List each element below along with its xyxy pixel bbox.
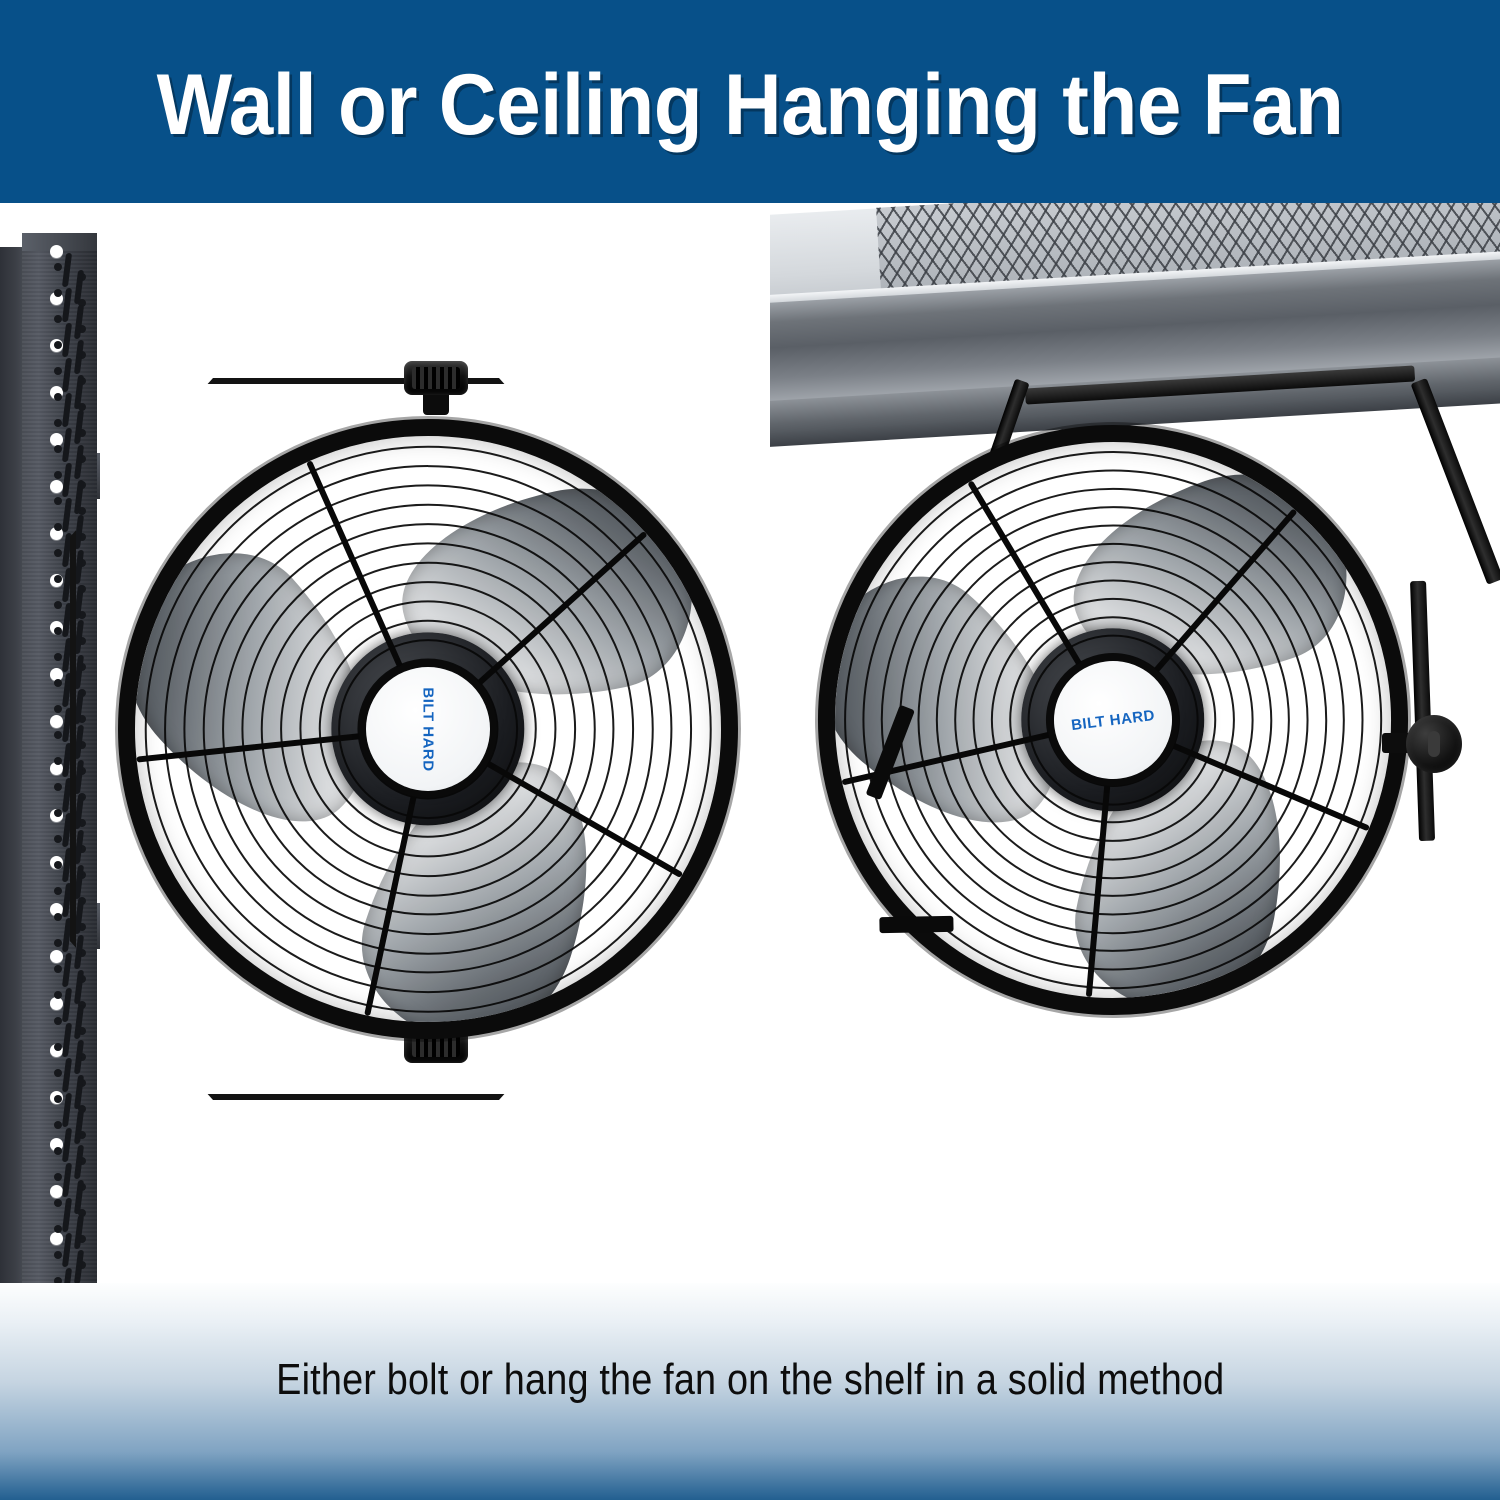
fan-unit-2: BILT HARD	[784, 391, 1442, 1049]
rack-hole-small	[54, 705, 62, 713]
rack-hole-small	[54, 1251, 62, 1259]
rack-slot	[74, 1215, 84, 1249]
rack-hole-small	[54, 523, 62, 531]
header-banner: Wall or Ceiling Hanging the Fan	[0, 0, 1500, 203]
rack-hole-small	[54, 1069, 62, 1077]
rack-slot	[62, 393, 72, 427]
rack-hole-small	[54, 679, 62, 687]
rack-hole-small	[54, 809, 62, 817]
rack-slot	[62, 463, 72, 497]
rack-slot	[62, 1058, 72, 1092]
rack-slot	[74, 375, 84, 409]
infographic-page: Wall or Ceiling Hanging the Fan	[0, 0, 1500, 1500]
rack-slot	[62, 1233, 72, 1267]
rack-hole-small	[54, 1017, 62, 1025]
rack-hole-small	[54, 471, 62, 479]
rack-slot	[74, 340, 84, 374]
cage-side-wing-left	[879, 916, 953, 933]
rack-slot	[62, 288, 72, 322]
brand-logo-text: BILT HARD	[420, 687, 437, 771]
rack-hole-small	[54, 341, 62, 349]
rack-hole-small	[54, 783, 62, 791]
rack-hole-small	[54, 549, 62, 557]
rack-hole-small	[54, 263, 62, 271]
fan-unit-1: BILT HARD	[118, 419, 738, 1039]
rack-hole-small	[54, 601, 62, 609]
rack-slot	[62, 323, 72, 357]
rack-slot	[62, 1093, 72, 1127]
rack-slot	[74, 480, 84, 514]
rack-hole-small	[54, 393, 62, 401]
rack-slot	[74, 1180, 84, 1214]
brand-logo-text: BILT HARD	[1070, 706, 1156, 733]
rack-slot	[74, 1110, 84, 1144]
rack-hole-small	[54, 575, 62, 583]
rack-hole-small	[54, 965, 62, 973]
rack-hole-small	[54, 1225, 62, 1233]
comparison-stage: BILT HARD	[0, 203, 1500, 1283]
rack-hole-small	[54, 445, 62, 453]
tilt-knob-top[interactable]	[404, 361, 468, 395]
rack-slot	[74, 305, 84, 339]
rack-slot	[74, 270, 84, 304]
rack-hole-small	[54, 497, 62, 505]
rack-hole-small	[54, 419, 62, 427]
panel-ceiling-hang: BILT HARD	[770, 203, 1500, 1283]
tilt-knob-side[interactable]	[1406, 715, 1462, 773]
rack-slot	[62, 253, 72, 287]
rack-slot	[62, 988, 72, 1022]
rack-hole-small	[54, 757, 62, 765]
rack-slot	[62, 1023, 72, 1057]
rack-slot	[74, 1145, 84, 1179]
rack-hole-small	[54, 1121, 62, 1129]
rack-hole-small	[54, 289, 62, 297]
rack-hole-small	[54, 1095, 62, 1103]
rack-hole-small	[54, 913, 62, 921]
rack-slot	[74, 445, 84, 479]
rack-slot	[74, 970, 84, 1004]
rack-slot	[74, 410, 84, 444]
rack-slot	[74, 1040, 84, 1074]
rack-slot	[62, 428, 72, 462]
footer-banner: Either bolt or hang the fan on the shelf…	[0, 1283, 1500, 1500]
rack-slot	[74, 1250, 84, 1283]
rack-slot	[62, 498, 72, 532]
rack-hole-small	[54, 315, 62, 323]
rack-hole-small	[54, 887, 62, 895]
rack-slot	[62, 1198, 72, 1232]
rack-slot	[62, 1163, 72, 1197]
rack-hole-small	[54, 861, 62, 869]
rack-hole-small	[54, 991, 62, 999]
rack-slot	[74, 1075, 84, 1109]
panel-wall-mount: BILT HARD	[0, 203, 770, 1283]
rack-slot	[62, 953, 72, 987]
rack-hole-small	[54, 1199, 62, 1207]
rack-hole-small	[54, 627, 62, 635]
footer-caption: Either bolt or hang the fan on the shelf…	[276, 1355, 1224, 1405]
rack-hole-small	[54, 731, 62, 739]
page-title: Wall or Ceiling Hanging the Fan	[157, 62, 1344, 148]
rack-hole-small	[54, 653, 62, 661]
rack-hole-small	[54, 1147, 62, 1155]
rack-slot	[62, 1268, 72, 1283]
rack-hole-small	[54, 1173, 62, 1181]
rack-hole-small	[54, 367, 62, 375]
rack-hole-small	[54, 939, 62, 947]
rack-slot	[74, 1005, 84, 1039]
rack-hole-small	[54, 835, 62, 843]
rack-slot	[62, 1128, 72, 1162]
rack-slot	[62, 358, 72, 392]
rack-hole-small	[54, 1043, 62, 1051]
fan-hub-logo: BILT HARD	[366, 667, 490, 791]
